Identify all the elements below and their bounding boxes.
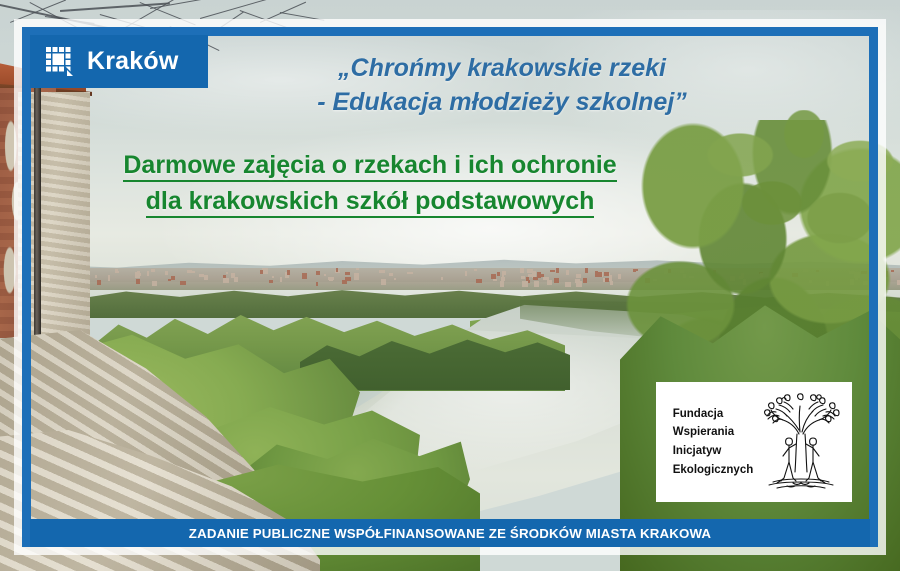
foundation-name-line-3: Inicjatyw [673, 442, 754, 461]
poster-subtitle: Darmowe zajęcia o rzekach i ich ochronie… [70, 148, 670, 219]
title-line-1: „Chrońmy krakowskie rzeki [232, 52, 772, 86]
downpipe [34, 78, 41, 378]
krakow-wordmark: Kraków [87, 49, 179, 74]
subtitle-line-1: Darmowe zajęcia o rzekach i ich ochronie [70, 148, 670, 184]
subtitle-line-1-text: Darmowe zajęcia o rzekach i ich ochronie [123, 151, 616, 182]
title-line-2: - Edukacja młodzieży szkolnej” [232, 86, 772, 120]
foundation-name-line-1: Fundacja [673, 405, 754, 424]
krakow-grid-icon [46, 47, 76, 77]
poster-title: „Chrońmy krakowskie rzeki - Edukacja mło… [232, 52, 772, 119]
subtitle-line-2-text: dla krakowskich szkół podstawowych [146, 187, 595, 218]
right-upper-tree [700, 110, 900, 260]
foundation-logo: Fundacja Wspierania Inicjatyw Ekologiczn… [656, 382, 852, 502]
poster: Kraków „Chrońmy krakowskie rzeki - Eduka… [0, 0, 900, 571]
bottom-banner: ZADANIE PUBLICZNE WSPÓŁFINANSOWANE ZE ŚR… [30, 519, 870, 547]
krakow-logo-bar: Kraków [30, 35, 208, 88]
tree-with-two-figures-icon [759, 390, 843, 494]
subtitle-line-2: dla krakowskich szkół podstawowych [70, 184, 670, 220]
foundation-name-line-2: Wspierania [673, 423, 754, 442]
foundation-name-line-4: Ekologicznych [673, 461, 754, 480]
bottom-banner-text: ZADANIE PUBLICZNE WSPÓŁFINANSOWANE ZE ŚR… [189, 526, 711, 541]
foundation-name: Fundacja Wspierania Inicjatyw Ekologiczn… [673, 405, 754, 480]
